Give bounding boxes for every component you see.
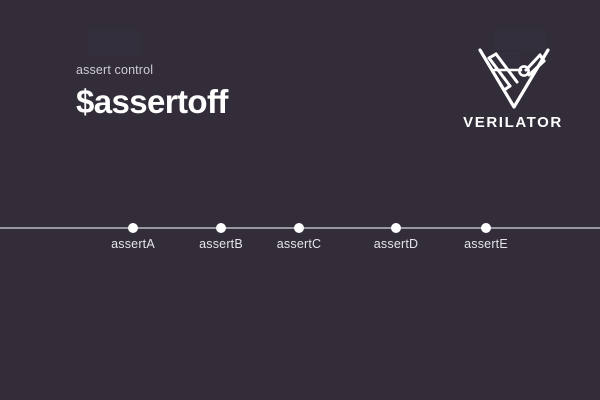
timeline-dot-icon[interactable]	[128, 223, 138, 233]
timeline-dot-icon[interactable]	[294, 223, 304, 233]
timeline-axis	[0, 227, 600, 229]
timeline-point-label: assertC	[239, 236, 359, 252]
timeline-dot-icon[interactable]	[391, 223, 401, 233]
verilator-wordmark: VERILATOR	[459, 114, 567, 132]
timeline-point-label: assertB	[161, 236, 281, 252]
slide-headline: $assertoff	[76, 83, 228, 121]
verilator-v-checkmark-icon	[474, 44, 554, 112]
verilator-v-checkmark-icon-svg	[474, 44, 554, 112]
title-block: assert control $assertoff	[76, 62, 228, 121]
verilator-logo: VERILATOR	[459, 44, 567, 136]
slide-eyebrow: assert control	[76, 62, 228, 78]
timeline-point-label: assertD	[336, 236, 456, 252]
timeline-point-label: assertE	[426, 236, 546, 252]
timeline-dot-icon[interactable]	[481, 223, 491, 233]
background-patch	[88, 30, 140, 56]
timeline-dot-icon[interactable]	[216, 223, 226, 233]
timeline-point-label: assertA	[73, 236, 193, 252]
slide-canvas: assert control $assertoff	[0, 0, 600, 400]
